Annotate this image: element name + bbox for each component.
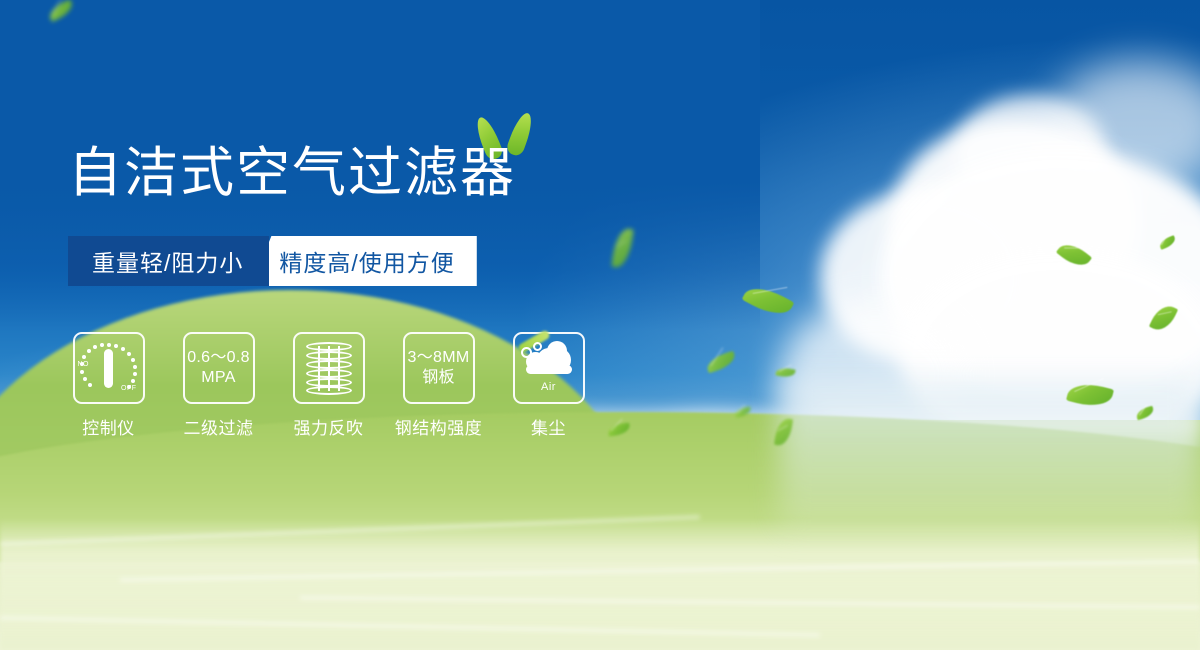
- gauge-icon: NO OFF: [79, 339, 139, 397]
- feature-item-two-stage-filter[interactable]: 0.6〜0.8 MPA 二级过滤: [178, 332, 259, 439]
- feature-icon-box: Air: [513, 332, 585, 404]
- feature-item-controller[interactable]: NO OFF 控制仪: [68, 332, 149, 439]
- feature-label: 钢结构强度: [395, 414, 483, 439]
- air-cloud-icon: [521, 339, 577, 379]
- steel-material: 钢板: [422, 368, 455, 388]
- feature-item-dust-collection[interactable]: Air 集尘: [508, 332, 589, 439]
- subtitle-right-badge: 精度高/使用方便: [251, 236, 476, 286]
- feature-item-blowback[interactable]: 强力反吹: [288, 332, 369, 439]
- gauge-label-no: NO: [78, 361, 90, 368]
- subtitle-bar: 重量轻/阻力小 精度高/使用方便: [68, 236, 477, 286]
- coil-icon: [306, 342, 352, 394]
- page-title: 自洁式空气过滤器: [68, 143, 516, 203]
- feature-icon-box: [293, 332, 365, 404]
- feature-label: 强力反吹: [294, 414, 364, 439]
- gauge-needle: [104, 349, 113, 388]
- feature-list: NO OFF 控制仪 0.6〜0.8 MPA 二级过滤: [68, 332, 589, 439]
- air-label: Air: [541, 381, 556, 393]
- feature-icon-box: 0.6〜0.8 MPA: [183, 332, 255, 404]
- field-haze-right: [780, 380, 1200, 530]
- pressure-unit: MPA: [201, 368, 235, 388]
- feature-label: 集尘: [531, 414, 566, 439]
- feature-icon-box: NO OFF: [73, 332, 145, 404]
- feature-label: 控制仪: [82, 414, 135, 439]
- product-banner: 自洁式空气过滤器 重量轻/阻力小 精度高/使用方便: [0, 0, 1200, 650]
- steel-thickness: 3〜8MM: [408, 348, 470, 368]
- gauge-label-off: OFF: [121, 385, 137, 392]
- pressure-value: 0.6〜0.8: [187, 348, 250, 368]
- feature-label: 二级过滤: [184, 414, 254, 439]
- feature-item-steel-strength[interactable]: 3〜8MM 钢板 钢结构强度: [398, 332, 479, 439]
- feature-icon-box: 3〜8MM 钢板: [403, 332, 475, 404]
- subtitle-left-badge: 重量轻/阻力小: [68, 236, 269, 286]
